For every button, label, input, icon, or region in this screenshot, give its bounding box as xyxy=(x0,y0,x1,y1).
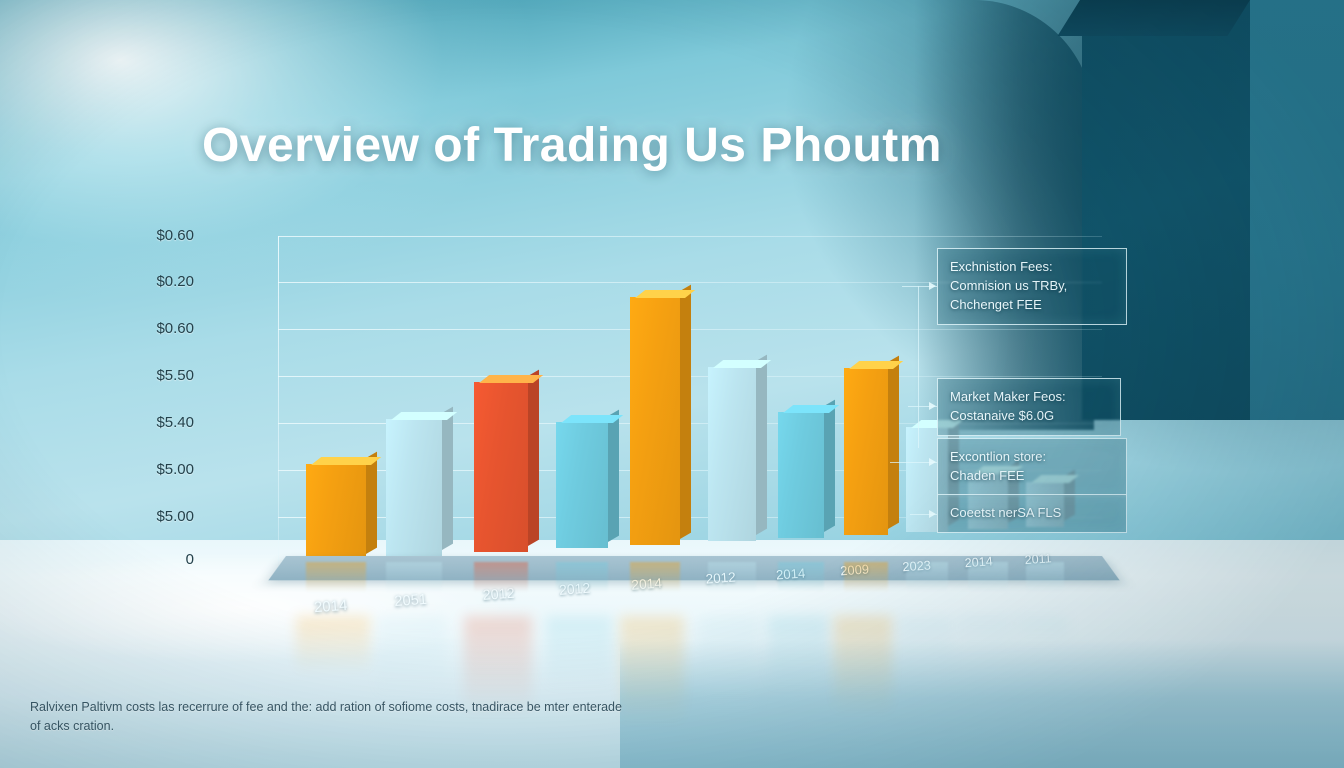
bar-floor-reflection xyxy=(376,616,446,698)
y-tick-label: $5.40 xyxy=(108,414,194,431)
callout-arrow-icon xyxy=(929,510,936,518)
bar-side-face xyxy=(680,285,691,539)
bar-side-face xyxy=(888,356,899,529)
chart-canvas: Overview of Trading Us Phoutm $0.60$0.20… xyxy=(0,0,1344,768)
bar-front-face xyxy=(708,367,756,541)
bar-front-face xyxy=(778,412,824,538)
callout-arrow-icon xyxy=(929,402,936,410)
bar-plinth-reflection xyxy=(708,562,756,592)
callout-arrow-icon xyxy=(929,458,936,466)
callout-line: Excontlion store: xyxy=(950,448,1114,467)
bar-floor-reflection xyxy=(546,616,612,691)
bar-front-face xyxy=(556,422,608,548)
callout-line: Chaden FEE xyxy=(950,467,1114,486)
bar-plinth-reflection xyxy=(778,562,824,592)
bar-floor-reflection xyxy=(958,616,1012,649)
bar-top-face xyxy=(635,290,695,298)
callout-line: Exchnistion Fees: xyxy=(950,258,1114,277)
y-tick-label: $0.60 xyxy=(108,227,194,244)
bar-floor-reflection xyxy=(834,616,892,716)
bar-plinth-reflection xyxy=(968,562,1008,592)
bar-plinth-reflection xyxy=(630,562,680,592)
callout-line: Comnision us TRBy, xyxy=(950,277,1114,296)
bar xyxy=(386,419,442,556)
callout-contest-fls[interactable]: Coeetst nerSA FLS xyxy=(937,494,1127,533)
bar-floor-reflection xyxy=(698,616,760,721)
bar-plinth-reflection xyxy=(906,562,948,592)
right-wall-panel xyxy=(1082,0,1344,420)
bar xyxy=(778,412,824,538)
bar-plinth-reflection xyxy=(386,562,442,592)
bar-plinth-reflection xyxy=(556,562,608,592)
bar xyxy=(556,422,608,548)
bar-plinth-reflection xyxy=(474,562,528,592)
bar-front-face xyxy=(630,297,680,545)
callout-market-maker-fees[interactable]: Market Maker Feos:Costanaive $6.0G xyxy=(937,378,1121,436)
y-tick-label: $0.20 xyxy=(108,273,194,290)
callout-execution-store[interactable]: Excontlion store:Chaden FEE xyxy=(937,438,1127,496)
bar-floor-reflection xyxy=(1016,616,1068,643)
callout-arrow-icon xyxy=(929,282,936,290)
bar-top-face xyxy=(311,457,381,465)
y-tick-label: $5.00 xyxy=(108,508,194,525)
callout-line: Market Maker Feos: xyxy=(950,388,1108,407)
y-tick-label: 0 xyxy=(108,551,194,568)
bar xyxy=(474,382,528,552)
bar-side-face xyxy=(608,410,619,542)
bar xyxy=(630,297,680,545)
bar-front-face xyxy=(844,368,888,535)
bar-plinth-reflection xyxy=(306,562,366,592)
callout-exchange-fees[interactable]: Exchnistion Fees:Comnision us TRBy,Chche… xyxy=(937,248,1127,325)
figure-caption: Ralvixen Paltivm costs las recerrure of … xyxy=(30,698,630,737)
bar-top-face xyxy=(391,412,457,420)
y-tick-label: $5.00 xyxy=(108,461,194,478)
bar-plinth-reflection xyxy=(1026,562,1064,592)
y-tick-label: $0.60 xyxy=(108,320,194,337)
callout-line: Costanaive $6.0G xyxy=(950,407,1108,426)
x-tick-label: 2014 xyxy=(313,597,347,616)
bar-floor-reflection xyxy=(296,616,370,674)
callout-line: Chchenget FEE xyxy=(950,296,1114,315)
bar-top-face xyxy=(561,415,623,423)
bar xyxy=(708,367,756,541)
callout-leader-vertical xyxy=(918,286,919,448)
bar-front-face xyxy=(474,382,528,552)
bar-front-face xyxy=(306,464,366,560)
bar-front-face xyxy=(386,419,442,556)
y-tick-label: $5.50 xyxy=(108,367,194,384)
x-tick-label: 2051 xyxy=(394,591,428,610)
bar-top-face xyxy=(713,360,771,368)
right-wall-bevel xyxy=(1058,0,1250,36)
bar-side-face xyxy=(756,354,767,535)
bar-plinth-reflection xyxy=(844,562,888,592)
bar-floor-reflection xyxy=(896,616,952,679)
bar-side-face xyxy=(442,407,453,550)
bar-top-face xyxy=(479,375,543,383)
bar-side-face xyxy=(366,452,377,554)
bar-side-face xyxy=(824,400,835,532)
callout-line: Coeetst nerSA FLS xyxy=(950,504,1114,523)
bar-side-face xyxy=(528,370,539,546)
bar xyxy=(844,368,888,535)
bar xyxy=(306,464,366,560)
page-title: Overview of Trading Us Phoutm xyxy=(202,118,942,173)
bar-floor-reflection xyxy=(768,616,828,691)
